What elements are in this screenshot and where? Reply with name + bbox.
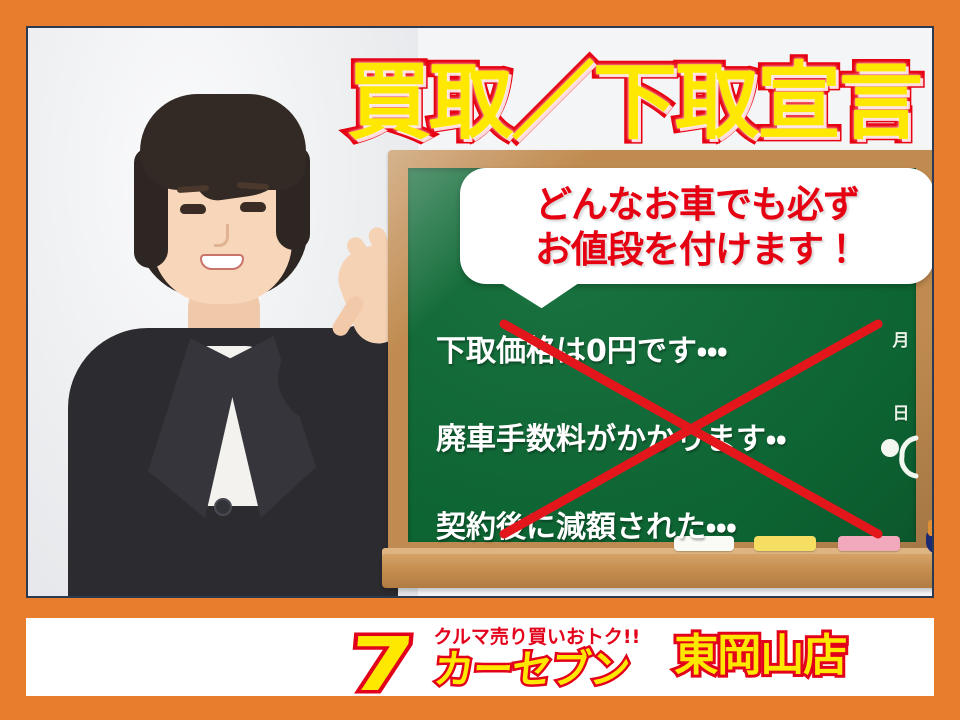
blackboard-line-1: 下取価格は0円です・・・ [436, 326, 906, 370]
photo-eye-right [240, 202, 266, 212]
headline-text: 買取／下取宣言 [347, 60, 921, 144]
eraser-felt [928, 520, 934, 536]
blackboard-text-lines: 下取価格は0円です・・・ 廃車手数料がかかります・・ 契約後に減額された・・・ [436, 326, 906, 546]
date-day-label: 日 [884, 399, 918, 424]
speech-bubble-body: どんなお車でも必ず お値段を付けます！ [460, 168, 934, 284]
speech-bubble-line-1: どんなお車でも必ず [470, 182, 924, 227]
seven-numeral-icon: 7 [347, 635, 417, 696]
footer-logo-bar: 7 クルマ売り買いおトク!! カーセブン 東岡山店 [26, 618, 934, 696]
store-name: 東岡山店 [674, 634, 846, 678]
photo-hair-front [140, 94, 306, 190]
photo-smile [200, 254, 244, 270]
blackboard-line-2: 廃車手数料がかかります・・ [436, 414, 906, 458]
carseven-logo: 7 クルマ売り買いおトク!! カーセブン [356, 622, 640, 692]
main-panel: 買取／下取宣言 下取価格は0円です・・・ 廃車手数料がかかります・・ 契約後に減… [26, 26, 934, 598]
chalk-tray [382, 554, 934, 588]
blackboard-line-3: 契約後に減額された・・・ [436, 502, 906, 546]
date-month-label: 月 [884, 326, 918, 351]
logo-tagline: クルマ売り買いおトク!! [434, 622, 641, 649]
poster-canvas: 買取／下取宣言 下取価格は0円です・・・ 廃車手数料がかかります・・ 契約後に減… [0, 0, 960, 720]
speech-bubble: どんなお車でも必ず お値段を付けます！ [460, 168, 934, 284]
blackboard-eraser [926, 518, 934, 552]
chalk-doodle-icon [878, 432, 922, 482]
photo-eye-left [180, 204, 206, 214]
speech-bubble-line-2: お値段を付けます！ [470, 227, 924, 272]
headline: 買取／下取宣言 [324, 46, 934, 158]
logo-wordmark: クルマ売り買いおトク!! カーセブン [434, 622, 641, 690]
photo-jacket-button [214, 498, 232, 516]
logo-brand-name: カーセブン [431, 650, 630, 690]
